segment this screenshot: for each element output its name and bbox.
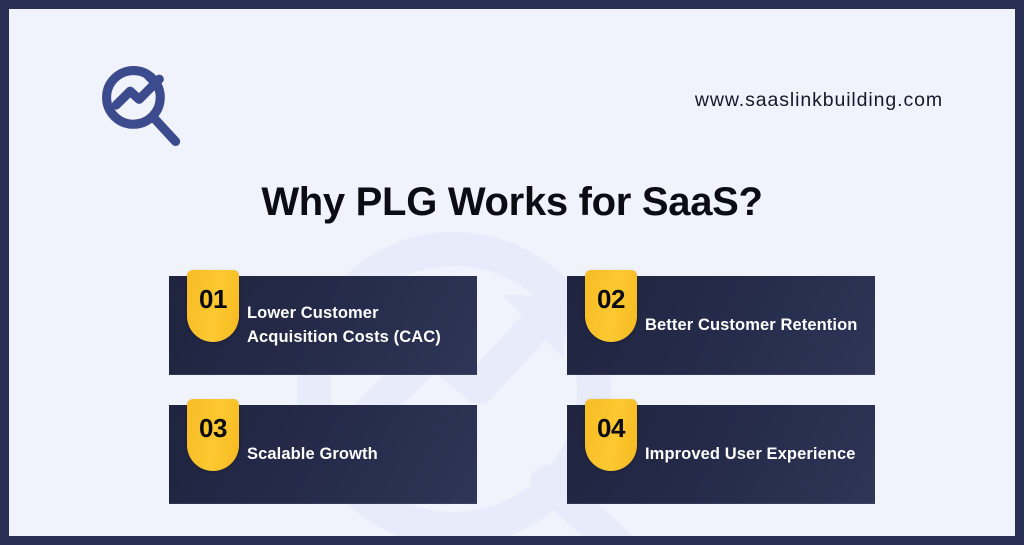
badge-shield-shape: 01 <box>187 270 239 342</box>
number-badge-02: 02 <box>585 270 637 342</box>
benefit-card-label: Lower Customer Acquisition Costs (CAC) <box>247 302 477 350</box>
slide-frame: www.saaslinkbuilding.com Why PLG Works f… <box>0 0 1024 545</box>
benefit-card-04[interactable]: 04 Improved User Experience <box>567 405 875 504</box>
benefit-card-grid: 01 Lower Customer Acquisition Costs (CAC… <box>169 276 875 504</box>
number-badge-03: 03 <box>187 399 239 471</box>
benefit-card-02[interactable]: 02 Better Customer Retention <box>567 276 875 375</box>
number-badge-04: 04 <box>585 399 637 471</box>
logo-icon <box>97 61 189 153</box>
page-title: Why PLG Works for SaaS? <box>9 180 1015 225</box>
badge-number: 04 <box>597 415 625 441</box>
benefit-card-01[interactable]: 01 Lower Customer Acquisition Costs (CAC… <box>169 276 477 375</box>
number-badge-01: 01 <box>187 270 239 342</box>
badge-shield-shape: 03 <box>187 399 239 471</box>
benefit-card-label: Better Customer Retention <box>645 314 871 338</box>
benefit-card-03[interactable]: 03 Scalable Growth <box>169 405 477 504</box>
badge-shield-shape: 02 <box>585 270 637 342</box>
site-url: www.saaslinkbuilding.com <box>695 89 943 112</box>
badge-number: 03 <box>199 415 227 441</box>
benefit-card-label: Scalable Growth <box>247 443 392 467</box>
badge-number: 01 <box>199 286 227 312</box>
badge-shield-shape: 04 <box>585 399 637 471</box>
badge-number: 02 <box>597 286 625 312</box>
slide-canvas: www.saaslinkbuilding.com Why PLG Works f… <box>9 9 1015 536</box>
benefit-card-label: Improved User Experience <box>645 443 870 467</box>
